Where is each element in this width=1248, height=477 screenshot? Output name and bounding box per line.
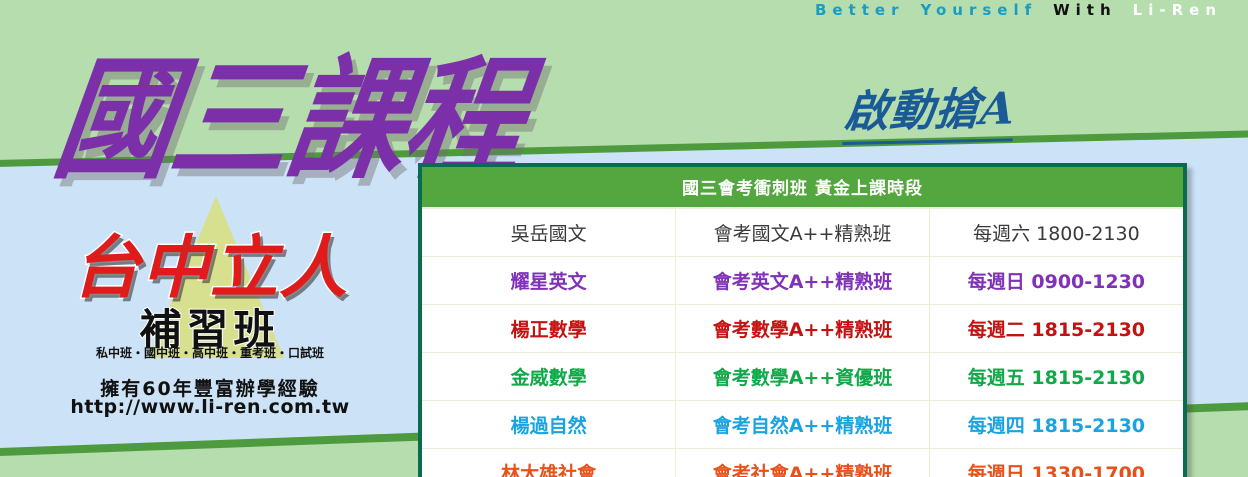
cell-course: 會考國文A++精熟班 (676, 208, 930, 257)
cell-course: 會考社會A++精熟班 (676, 449, 930, 477)
cell-teacher: 楊過自然 (422, 401, 676, 449)
table-row: 耀星英文 會考英文A++精熟班 每週日 0900-1230 (422, 257, 1183, 305)
schedule-table-frame: 國三會考衝刺班 黃金上課時段 吳岳國文 會考國文A++精熟班 每週六 1800-… (418, 163, 1187, 477)
cell-time: 每週二 1815-2130 (929, 305, 1183, 353)
page-subtitle: 啟動搶A (842, 72, 1018, 145)
cell-time: 每週日 1330-1700 (929, 449, 1183, 477)
cell-teacher: 耀星英文 (422, 257, 676, 305)
cell-course: 會考英文A++精熟班 (676, 257, 930, 305)
cell-time: 每週四 1815-2130 (929, 401, 1183, 449)
school-logo: 台中立人 補習班 私中班・國中班・高中班・重考班・口試班 擁有60年豐富辦學經驗… (30, 196, 390, 426)
schedule-table-body: 吳岳國文 會考國文A++精熟班 每週六 1800-2130 耀星英文 會考英文A… (422, 208, 1183, 477)
tagline-word-with: With (1053, 1, 1117, 19)
logo-website-url[interactable]: http://www.li-ren.com.tw (30, 396, 390, 418)
table-row: 吳岳國文 會考國文A++精熟班 每週六 1800-2130 (422, 208, 1183, 257)
schedule-table: 國三會考衝刺班 黃金上課時段 吳岳國文 會考國文A++精熟班 每週六 1800-… (422, 167, 1183, 477)
cell-time: 每週五 1815-2130 (929, 353, 1183, 401)
tagline-word-better: Better (815, 1, 905, 19)
cell-teacher: 林大雄社會 (422, 449, 676, 477)
cell-course: 會考自然A++精熟班 (676, 401, 930, 449)
tagline-word-yourself: Yourself (920, 1, 1037, 19)
table-row: 楊正數學 會考數學A++精熟班 每週二 1815-2130 (422, 305, 1183, 353)
tagline-word-liren: Li-Ren (1133, 1, 1222, 19)
cell-teacher: 楊正數學 (422, 305, 676, 353)
table-header-row: 國三會考衝刺班 黃金上課時段 (422, 167, 1183, 208)
cell-course: 會考數學A++資優班 (676, 353, 930, 401)
cell-teacher: 吳岳國文 (422, 208, 676, 257)
poster-canvas: BetterYourselfWithLi-Ren 國三課程 啟動搶A 台中立人 … (0, 0, 1248, 477)
schedule-table-header: 國三會考衝刺班 黃金上課時段 (422, 167, 1183, 208)
table-row: 林大雄社會 會考社會A++精熟班 每週日 1330-1700 (422, 449, 1183, 477)
cell-course: 會考數學A++精熟班 (676, 305, 930, 353)
tagline: BetterYourselfWithLi-Ren (815, 1, 1238, 19)
cell-time: 每週日 0900-1230 (929, 257, 1183, 305)
table-row: 金威數學 會考數學A++資優班 每週五 1815-2130 (422, 353, 1183, 401)
cell-time: 每週六 1800-2130 (929, 208, 1183, 257)
logo-class-list: 私中班・國中班・高中班・重考班・口試班 (30, 344, 390, 361)
cell-teacher: 金威數學 (422, 353, 676, 401)
table-row: 楊過自然 會考自然A++精熟班 每週四 1815-2130 (422, 401, 1183, 449)
